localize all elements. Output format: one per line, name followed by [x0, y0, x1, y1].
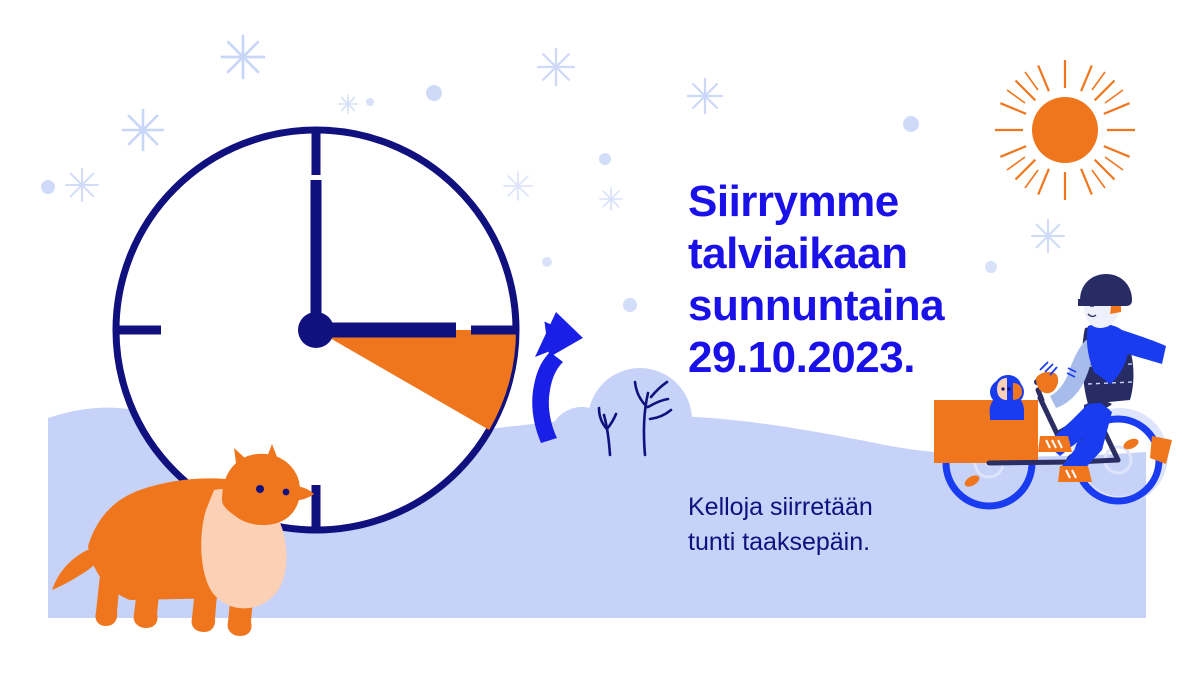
winter-time-change-poster: Siirrymme talviaikaan sunnuntaina 29.10.… — [0, 0, 1200, 675]
subtitle-line-2: tunti taaksepäin. — [688, 525, 988, 560]
headline-line-4: 29.10.2023. — [688, 332, 1018, 384]
subtitle-line-1: Kelloja siirretään — [688, 490, 988, 525]
cargo-bike-cyclist-icon — [0, 0, 1200, 675]
headline-line-1: Siirrymme — [688, 176, 1018, 228]
subtitle-text: Kelloja siirretään tunti taaksepäin. — [688, 490, 988, 560]
headline-line-2: talviaikaan — [688, 228, 1018, 280]
headline-line-3: sunnuntaina — [688, 280, 1018, 332]
page-title: Siirrymme talviaikaan sunnuntaina 29.10.… — [688, 176, 1018, 384]
